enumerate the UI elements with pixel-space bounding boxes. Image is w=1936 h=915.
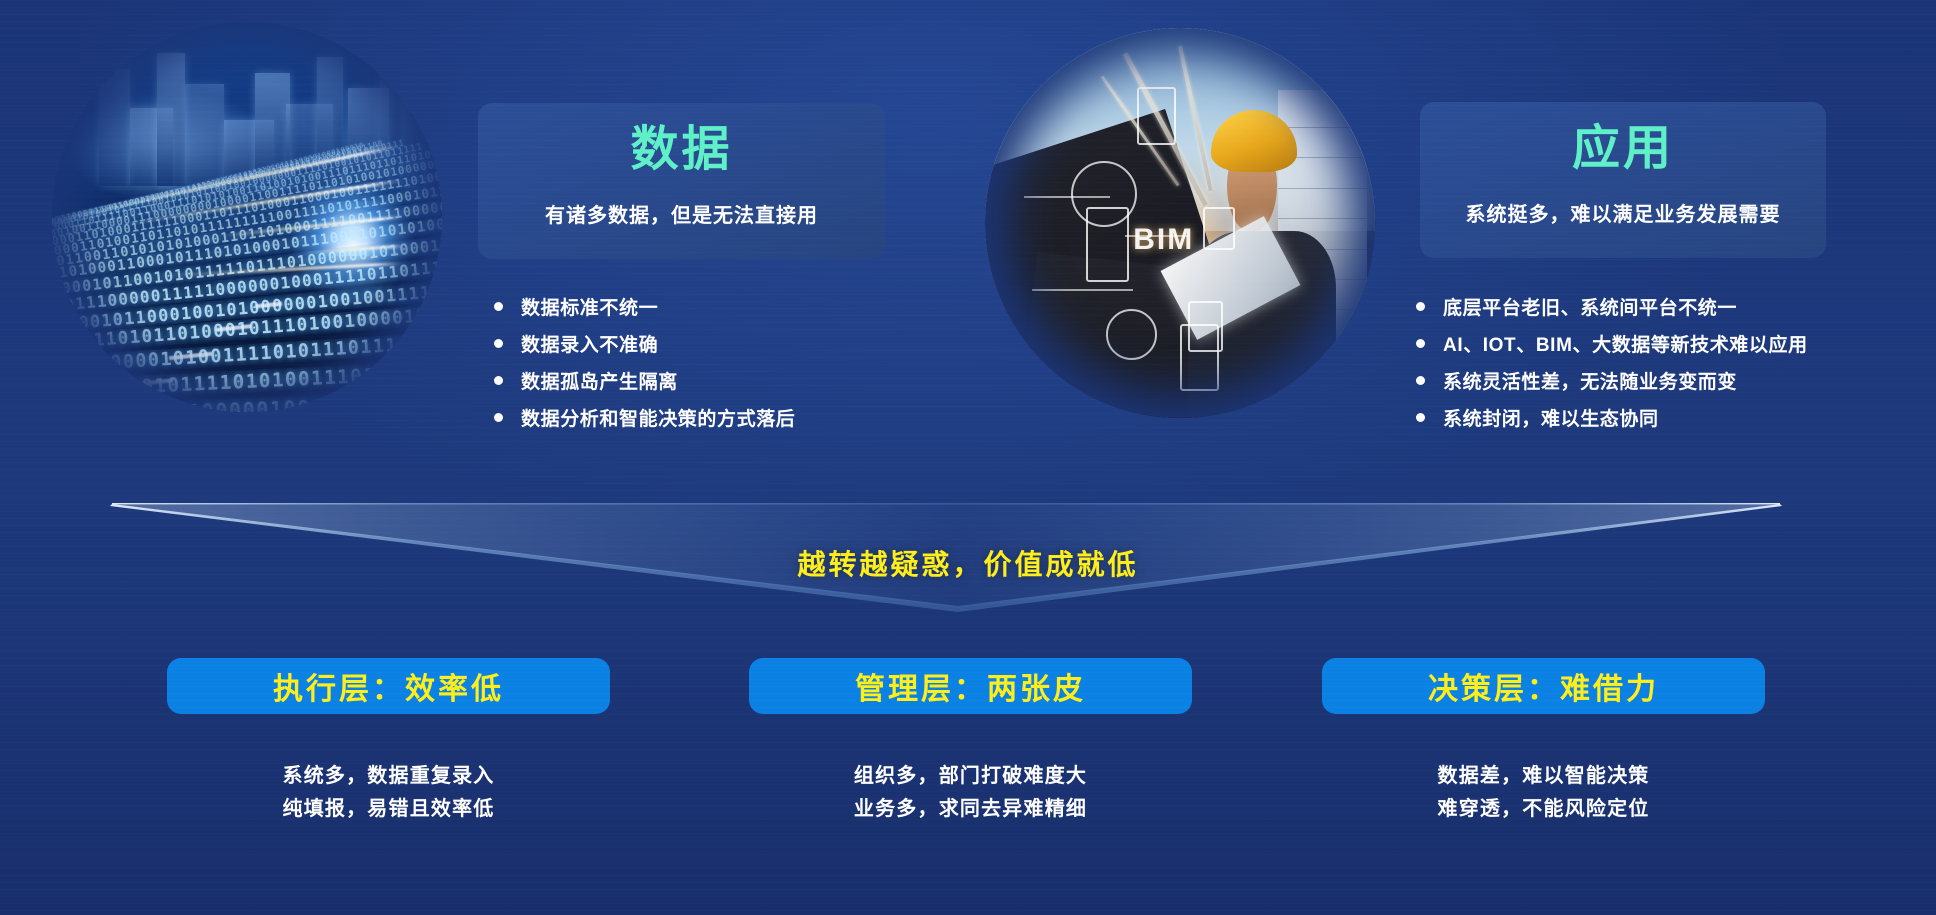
panel-title-app: 应用: [1420, 122, 1826, 176]
photo-hud-box-5: [1203, 207, 1234, 250]
column-line: 系统多，数据重复录入: [167, 760, 610, 793]
skyline-tower: [185, 84, 224, 185]
column-line: 难穿透，不能风险定位: [1322, 793, 1765, 826]
bottom-column-decision: 决策层：难借力 数据差，难以智能决策 难穿透，不能风险定位: [1322, 658, 1765, 826]
bullet-dot-icon: [494, 302, 503, 311]
bullet-dot-icon: [494, 339, 503, 348]
bullet-dot-icon: [1416, 413, 1425, 422]
bottom-column-execution: 执行层：效率低 系统多，数据重复录入 纯填报，易错且效率低: [167, 658, 610, 826]
bullet-row: 底层平台老旧、系统间平台不统一: [1416, 288, 1808, 325]
bullet-row: AI、IOT、BIM、大数据等新技术难以应用: [1416, 325, 1808, 362]
funnel-headline: 越转越疑惑，价值成就低: [0, 543, 1936, 583]
panel-subtitle-data: 有诸多数据，但是无法直接用: [478, 199, 885, 228]
bullet-list-app: 底层平台老旧、系统间平台不统一AI、IOT、BIM、大数据等新技术难以应用系统灵…: [1416, 288, 1808, 436]
binary-data-highway-photo: 1111001001111000101000010111010000111111…: [52, 22, 442, 412]
bullet-row: 数据录入不准确: [494, 325, 795, 362]
pill-label-execution: 执行层：效率低: [273, 664, 504, 708]
photo-hud-ring-small: [1106, 309, 1157, 360]
bullet-row: 系统灵活性差，无法随业务变而变: [1416, 362, 1808, 399]
panel-title-data: 数据: [478, 123, 885, 177]
bottom-column-management: 管理层：两张皮 组织多，部门打破难度大 业务多，求同去异难精细: [749, 658, 1192, 826]
bullet-row: 数据分析和智能决策的方式落后: [494, 399, 795, 436]
bullet-text: 数据录入不准确: [521, 330, 658, 357]
bullet-row: 系统封闭，难以生态协同: [1416, 399, 1808, 436]
pill-execution[interactable]: 执行层：效率低: [167, 658, 610, 714]
photo-hud-box-4: [1188, 301, 1223, 352]
pill-label-management: 管理层：两张皮: [855, 664, 1086, 708]
bullet-text: AI、IOT、BIM、大数据等新技术难以应用: [1443, 330, 1808, 357]
bullet-text: 系统灵活性差，无法随业务变而变: [1443, 367, 1737, 394]
column-lines-decision: 数据差，难以智能决策 难穿透，不能风险定位: [1322, 760, 1765, 826]
bullet-text: 系统封闭，难以生态协同: [1443, 404, 1659, 431]
bullet-row: 数据孤岛产生隔离: [494, 362, 795, 399]
column-line: 数据差，难以智能决策: [1322, 760, 1765, 793]
photo-hud-box-1: [1137, 87, 1176, 146]
bullet-dot-icon: [1416, 376, 1425, 385]
bullet-dot-icon: [494, 376, 503, 385]
bullet-dot-icon: [1416, 339, 1425, 348]
column-lines-execution: 系统多，数据重复录入 纯填报，易错且效率低: [167, 760, 610, 826]
bullet-dot-icon: [494, 413, 503, 422]
bullet-text: 数据分析和智能决策的方式落后: [521, 404, 795, 431]
bullet-row: 数据标准不统一: [494, 288, 795, 325]
panel-header-card-data: 数据 有诸多数据，但是无法直接用: [478, 103, 885, 259]
pill-decision[interactable]: 决策层：难借力: [1322, 658, 1765, 714]
pill-management[interactable]: 管理层：两张皮: [749, 658, 1192, 714]
photo-hud-box-2: [1086, 207, 1129, 281]
panel-header-card-app: 应用 系统挺多，难以满足业务发展需要: [1420, 102, 1826, 258]
column-line: 组织多，部门打破难度大: [749, 760, 1192, 793]
photo-hud-connector-1: [1024, 196, 1110, 198]
bim-construction-engineer-photo: BIM: [985, 28, 1375, 418]
bullet-list-data: 数据标准不统一数据录入不准确数据孤岛产生隔离数据分析和智能决策的方式落后: [494, 288, 795, 436]
pill-label-decision: 决策层：难借力: [1428, 664, 1659, 708]
column-line: 纯填报，易错且效率低: [167, 793, 610, 826]
bullet-text: 数据标准不统一: [521, 293, 658, 320]
bullet-dot-icon: [1416, 302, 1425, 311]
skyline-tower: [157, 53, 184, 186]
bullet-text: 数据孤岛产生隔离: [521, 367, 678, 394]
photo-hud-connector-2: [1032, 289, 1133, 291]
photo-bim-label: BIM: [1133, 223, 1194, 257]
panel-subtitle-app: 系统挺多，难以满足业务发展需要: [1420, 198, 1826, 227]
slide-canvas: 1111001001111000101000010111010000111111…: [0, 0, 1936, 915]
column-lines-management: 组织多，部门打破难度大 业务多，求同去异难精细: [749, 760, 1192, 826]
skyline-tower: [99, 69, 130, 186]
bullet-text: 底层平台老旧、系统间平台不统一: [1443, 293, 1737, 320]
column-line: 业务多，求同去异难精细: [749, 793, 1192, 826]
